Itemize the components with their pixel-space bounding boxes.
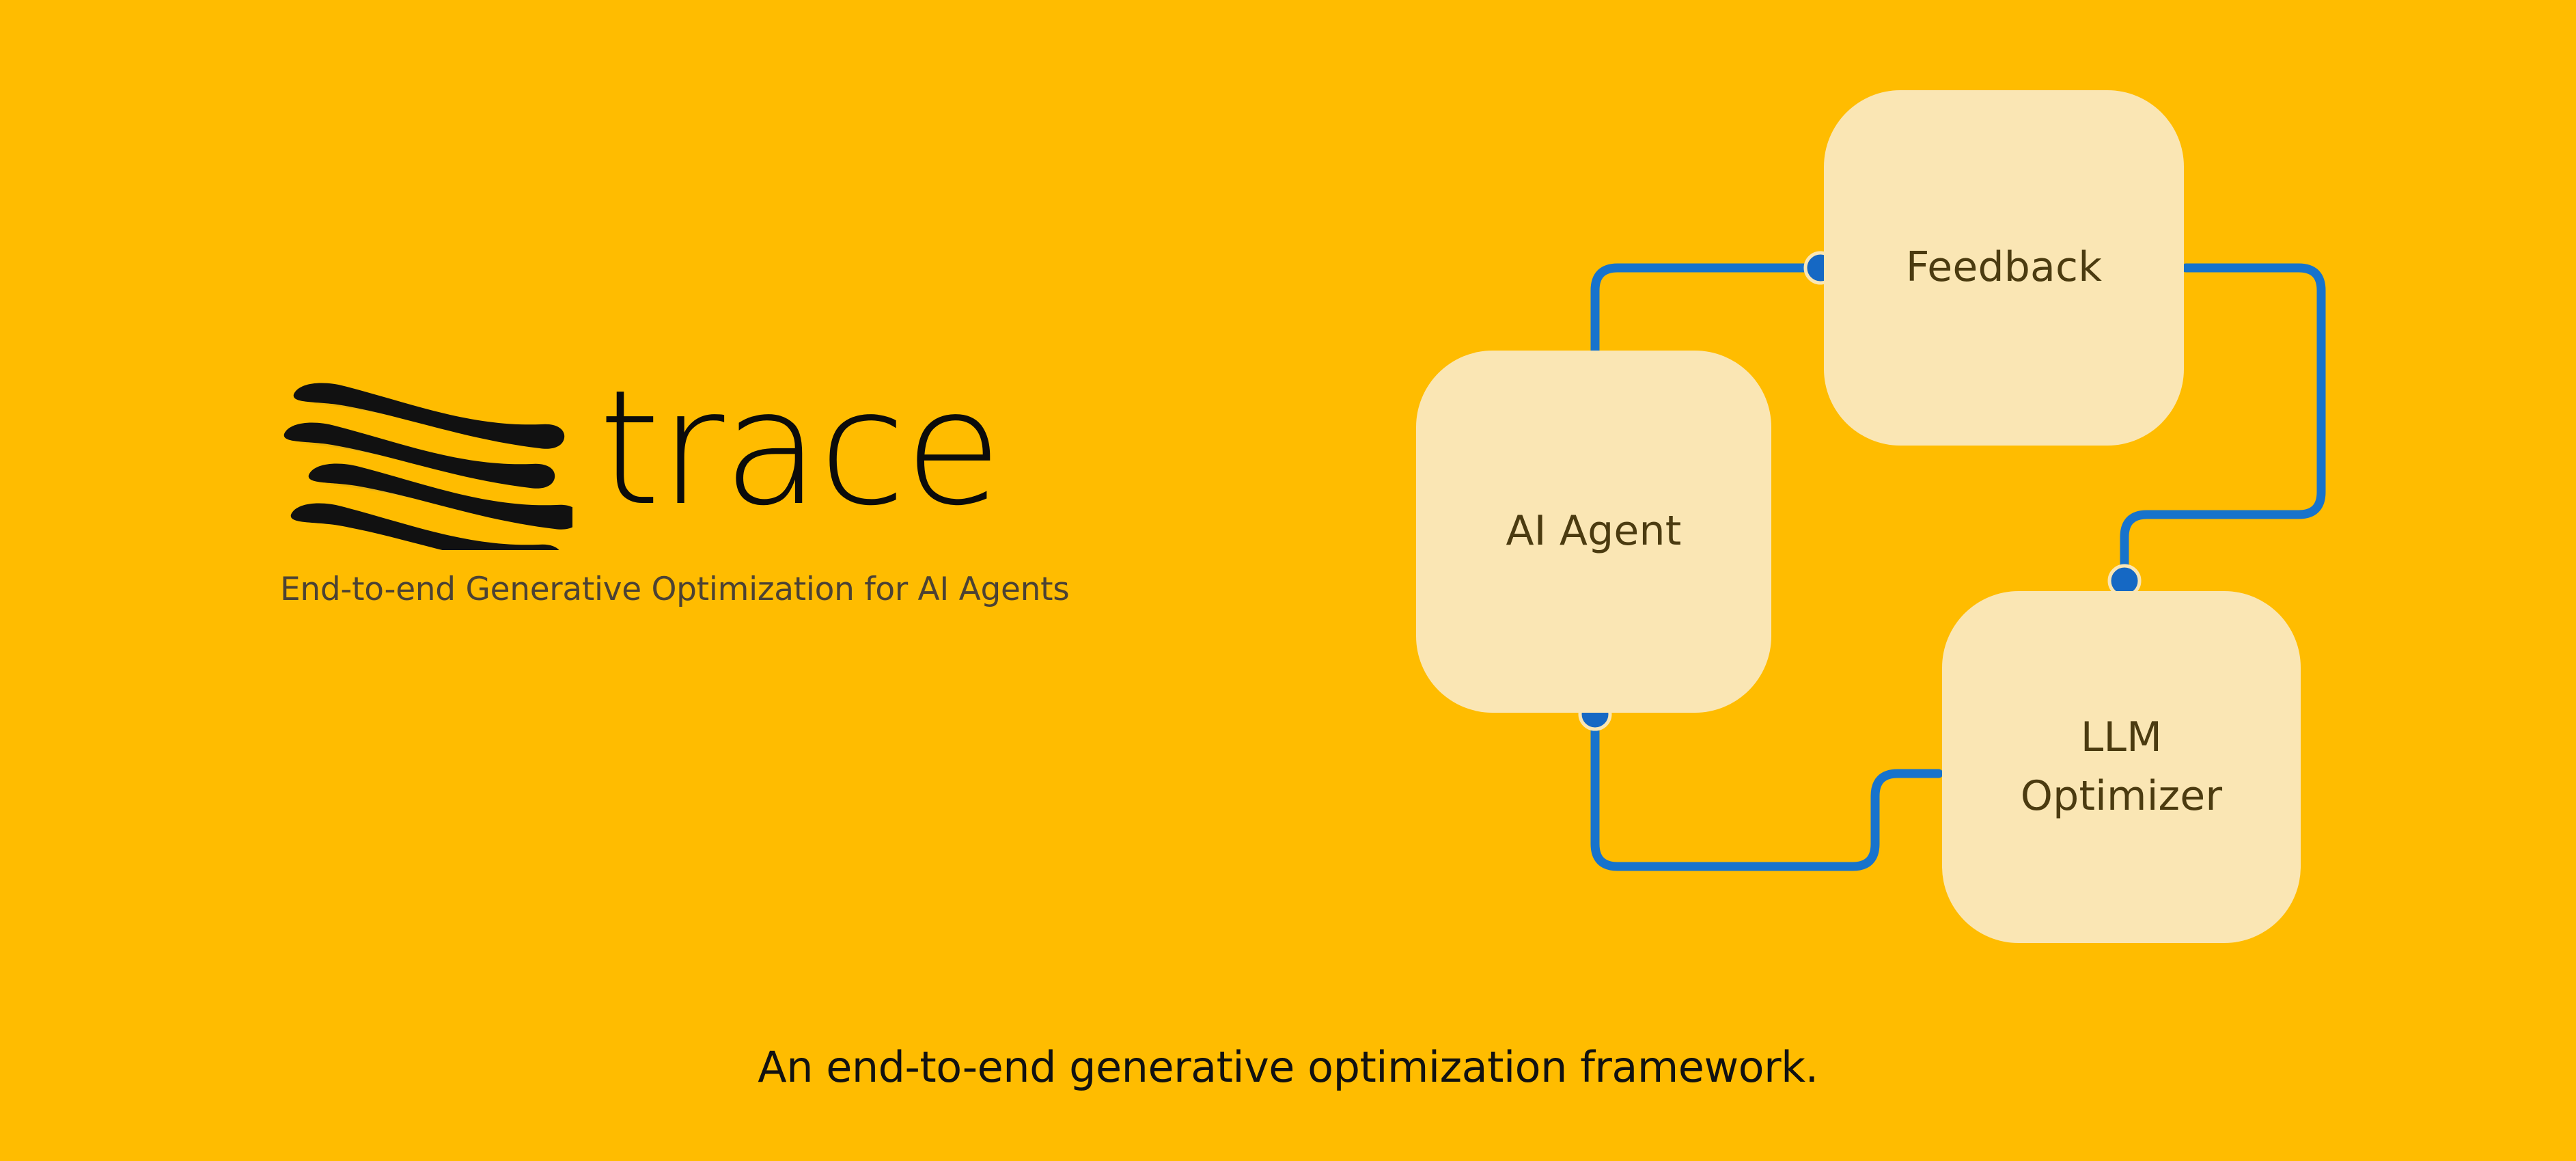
diagram-node-feedback[interactable]: Feedback (1824, 90, 2184, 446)
node-label-llm-optimizer: LLM Optimizer (2021, 709, 2223, 825)
node-label-feedback: Feedback (1906, 238, 2102, 297)
node-label-llm-optimizer-line2: Optimizer (2021, 772, 2223, 820)
diagram-node-ai-agent[interactable]: AI Agent (1416, 351, 1771, 713)
diagram-node-llm-optimizer[interactable]: LLM Optimizer (1942, 591, 2301, 943)
page-caption: An end-to-end generative optimization fr… (0, 1042, 2576, 1092)
node-label-llm-optimizer-line1: LLM (2081, 713, 2162, 761)
node-label-ai-agent: AI Agent (1506, 502, 1681, 560)
logo-row: trace (273, 355, 1161, 554)
brand-lockup: trace End-to-end Generative Optimization… (273, 355, 1161, 629)
trace-banner: trace End-to-end Generative Optimization… (0, 0, 2576, 1161)
brand-wordmark: trace (598, 369, 1001, 528)
agent-loop-diagram: AI Agent Feedback LLM Optimizer (1380, 41, 2405, 998)
trace-wave-logo-icon (279, 359, 572, 550)
edge-llm-optimizer-to-ai-agent (1595, 718, 1939, 866)
edge-ai-agent-to-feedback (1595, 268, 1820, 355)
brand-tagline: End-to-end Generative Optimization for A… (280, 571, 1154, 608)
